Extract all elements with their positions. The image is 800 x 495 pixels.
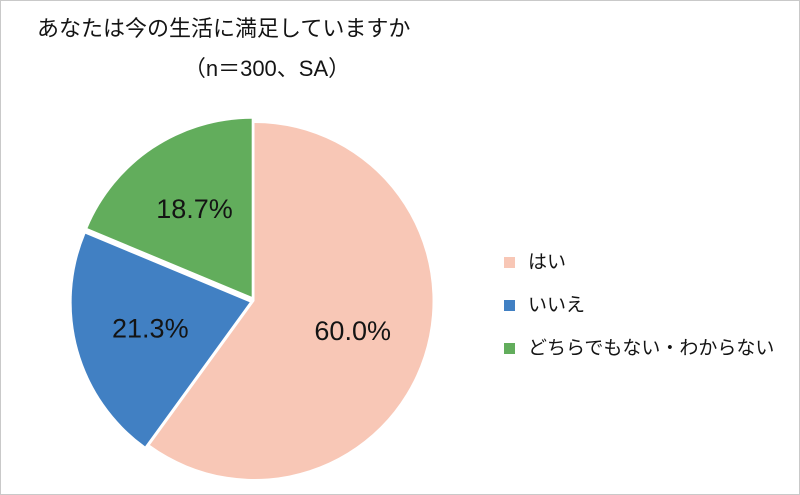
legend-swatch-icon <box>504 343 515 354</box>
legend-label-iie: いいえ <box>528 296 585 315</box>
pie-label-dochirademonai: 18.7% <box>156 194 233 224</box>
legend-swatch-icon <box>504 257 515 268</box>
pie-chart-card: あなたは今の生活に満足していますか （n＝300、SA） 60.0% 21.3%… <box>0 0 800 495</box>
legend-label-hai: はい <box>528 253 566 272</box>
pie-label-hai: 60.0% <box>314 316 391 346</box>
page-title: あなたは今の生活に満足していますか <box>37 13 497 45</box>
legend-swatch-icon <box>504 300 515 311</box>
legend-item-hai[interactable]: はい <box>504 241 794 284</box>
pie-svg: 60.0% 21.3% 18.7% <box>1 101 501 495</box>
chart-subtitle: （n＝300、SA） <box>37 53 497 85</box>
legend-label-dochirademonai: どちらでもない・わからない <box>528 339 774 358</box>
legend-item-iie[interactable]: いいえ <box>504 284 794 327</box>
legend-item-dochirademonai[interactable]: どちらでもない・わからない <box>504 327 794 370</box>
chart-legend: はい いいえ どちらでもない・わからない <box>504 241 794 370</box>
pie-plot-area: 60.0% 21.3% 18.7% <box>1 101 501 495</box>
pie-label-iie: 21.3% <box>112 313 189 343</box>
